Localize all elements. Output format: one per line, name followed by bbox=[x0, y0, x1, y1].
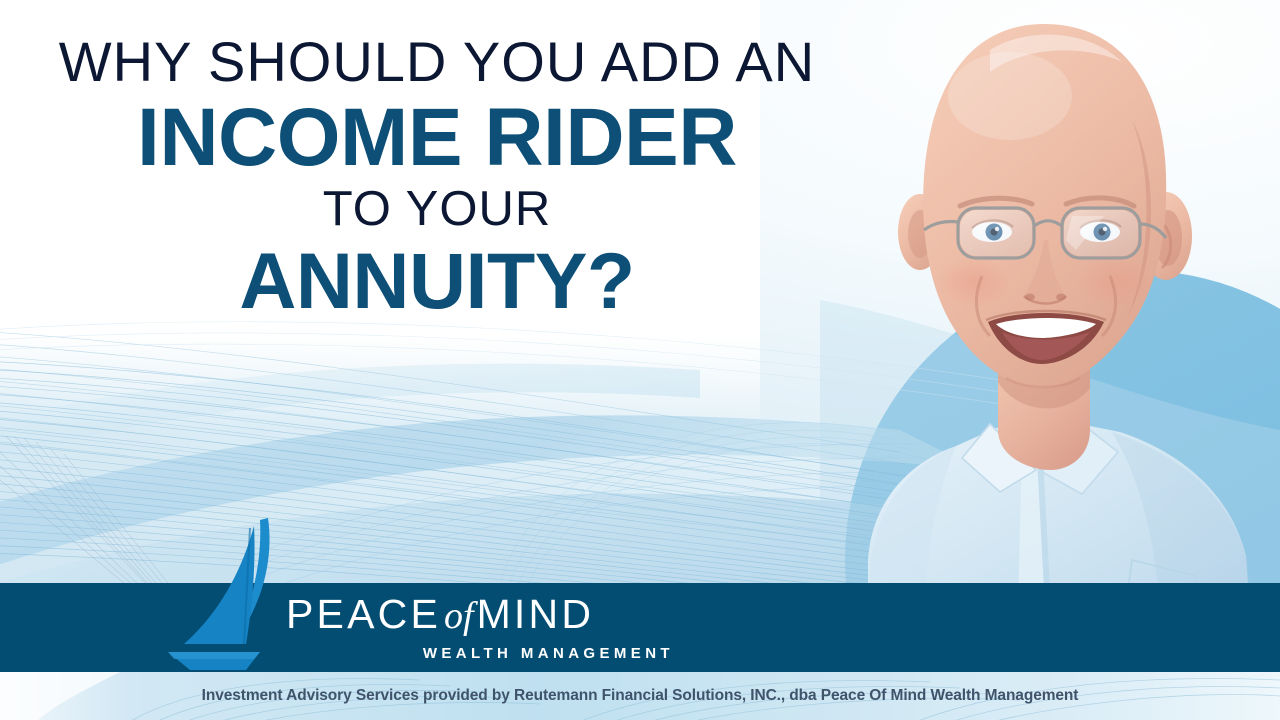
brand-tagline: WEALTH MANAGEMENT bbox=[286, 645, 676, 662]
brand-name: PEACEofMIND bbox=[286, 594, 676, 635]
sailboat-icon bbox=[150, 512, 290, 677]
brand-connector: of bbox=[441, 595, 477, 637]
disclaimer-text: Investment Advisory Services provided by… bbox=[0, 672, 1280, 720]
headline-block: WHY SHOULD YOU ADD AN INCOME RIDER TO YO… bbox=[18, 34, 856, 320]
slide-canvas: WHY SHOULD YOU ADD AN INCOME RIDER TO YO… bbox=[0, 0, 1280, 720]
headline-line-2: INCOME RIDER bbox=[18, 97, 856, 179]
headline-line-3: TO YOUR bbox=[18, 185, 856, 234]
brand-part-2: MIND bbox=[477, 591, 595, 637]
brand-part-1: PEACE bbox=[286, 591, 441, 637]
headline-line-4: ANNUITY? bbox=[18, 241, 856, 320]
disclaimer-strip: Investment Advisory Services provided by… bbox=[0, 672, 1280, 720]
headline-line-1: WHY SHOULD YOU ADD AN bbox=[18, 34, 856, 90]
logo-wordmark: PEACEofMIND WEALTH MANAGEMENT bbox=[286, 583, 676, 672]
